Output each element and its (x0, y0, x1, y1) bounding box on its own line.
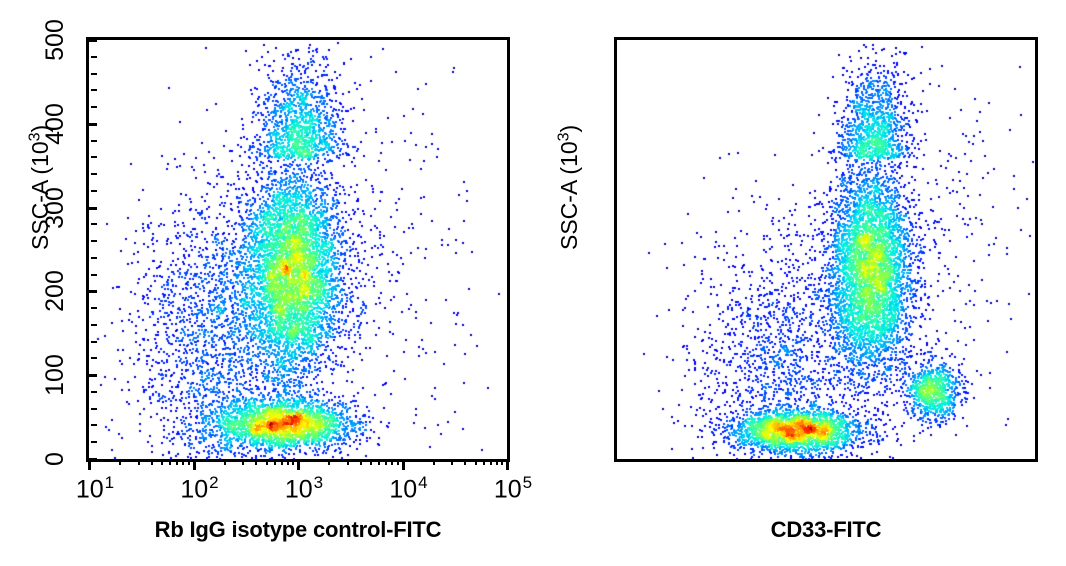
density-scatter-left (89, 40, 507, 459)
y-tick-minor (91, 89, 97, 91)
y-tick-minor (91, 73, 97, 75)
y-tick-major (86, 374, 97, 377)
x-tick-major (297, 459, 300, 470)
y-tick-major (86, 207, 97, 210)
x-tick-minor (287, 459, 289, 465)
y-tick-minor (91, 140, 97, 142)
x-tick-minor (378, 459, 380, 465)
x-tick-minor (501, 459, 503, 465)
y-tick-minor (91, 357, 97, 359)
x-tick-minor (347, 459, 349, 465)
x-tick-minor (496, 459, 498, 465)
x-tick-label: 104 (389, 473, 427, 504)
y-tick-minor (91, 307, 97, 309)
x-tick-minor (169, 459, 171, 465)
x-tick-minor (475, 459, 477, 465)
y-axis-title-right: SSC-A (103) (555, 125, 583, 250)
x-tick-minor (391, 459, 393, 465)
y-tick-minor (91, 156, 97, 158)
x-tick-minor (483, 459, 485, 465)
y-axis-title-left: SSC-A (103) (26, 125, 54, 250)
plot-frame-left (86, 37, 510, 462)
panel-isotype-control: 101102103104105 0100200300400500 Rb IgG … (0, 0, 533, 566)
y-tick-major (86, 458, 97, 461)
y-tick-minor (91, 223, 97, 225)
x-tick-minor (151, 459, 153, 465)
y-tick-minor (91, 424, 97, 426)
y-tick-label: 0 (41, 452, 70, 466)
density-scatter-right (617, 40, 1035, 459)
x-tick-label: 101 (76, 473, 114, 504)
x-tick-minor (255, 459, 257, 465)
x-tick-minor (397, 459, 399, 465)
y-tick-minor (91, 441, 97, 443)
x-tick-minor (385, 459, 387, 465)
x-tick-minor (464, 459, 466, 465)
x-tick-major (193, 459, 196, 470)
x-axis-title-right: CD33-FITC (771, 517, 882, 543)
x-tick-minor (224, 459, 226, 465)
x-tick-major (506, 459, 509, 470)
x-tick-minor (370, 459, 372, 465)
y-tick-minor (91, 257, 97, 259)
x-tick-minor (274, 459, 276, 465)
x-tick-minor (328, 459, 330, 465)
y-tick-minor (91, 240, 97, 242)
x-tick-minor (490, 459, 492, 465)
x-tick-major (402, 459, 405, 470)
y-tick-label: 500 (41, 19, 70, 61)
x-tick-minor (176, 459, 178, 465)
y-axis-title-text-left: SSC-A (103) (27, 125, 53, 250)
y-tick-minor (91, 341, 97, 343)
x-tick-minor (119, 459, 121, 465)
x-tick-minor (451, 459, 453, 465)
y-tick-label: 100 (41, 354, 70, 396)
x-tick-minor (266, 459, 268, 465)
x-tick-label: 103 (285, 473, 323, 504)
x-tick-label: 102 (180, 473, 218, 504)
x-tick-minor (360, 459, 362, 465)
x-tick-minor (433, 459, 435, 465)
y-tick-major (86, 290, 97, 293)
plot-area-left (89, 40, 507, 459)
y-tick-minor (91, 391, 97, 393)
y-tick-major (86, 39, 97, 42)
y-tick-minor (91, 190, 97, 192)
x-tick-minor (292, 459, 294, 465)
y-tick-minor (91, 56, 97, 58)
x-axis-title-left: Rb IgG isotype control-FITC (155, 517, 442, 543)
y-tick-minor (91, 106, 97, 108)
panel-cd33: 101102103104105 0100200300400500 CD33-FI… (533, 0, 1066, 566)
x-tick-minor (188, 459, 190, 465)
plot-frame-right (614, 37, 1038, 462)
x-tick-minor (138, 459, 140, 465)
y-tick-minor (91, 408, 97, 410)
y-tick-minor (91, 274, 97, 276)
x-tick-minor (242, 459, 244, 465)
y-tick-label: 200 (41, 271, 70, 313)
plot-area-right (617, 40, 1035, 459)
y-axis-title-text-right: SSC-A (103) (556, 125, 582, 250)
y-tick-major (86, 123, 97, 126)
figure-root: 101102103104105 0100200300400500 Rb IgG … (0, 0, 1066, 566)
y-tick-minor (91, 173, 97, 175)
x-tick-minor (281, 459, 283, 465)
x-tick-label: 105 (494, 473, 532, 504)
x-tick-minor (182, 459, 184, 465)
x-tick-minor (161, 459, 163, 465)
y-tick-minor (91, 324, 97, 326)
